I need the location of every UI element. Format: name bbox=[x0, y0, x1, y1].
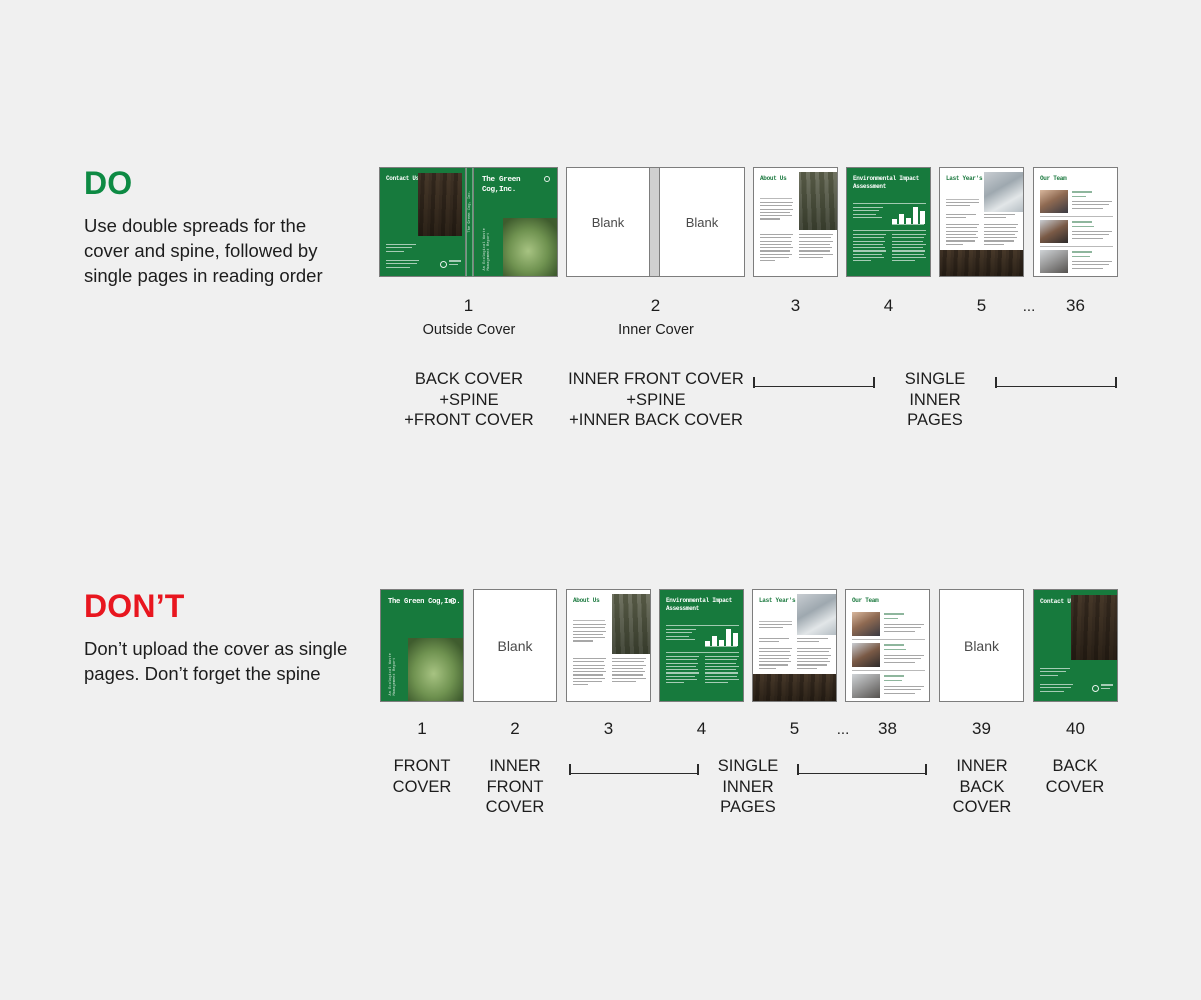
leaf-photo bbox=[503, 218, 558, 277]
inner-front-blank: Blank bbox=[566, 167, 650, 277]
dont-number-4: 4 bbox=[659, 719, 744, 739]
chart-legend bbox=[853, 207, 883, 220]
body-text-block bbox=[666, 656, 699, 686]
dont-thumb-page-3[interactable]: About Us bbox=[566, 589, 651, 702]
team-role-2 bbox=[1072, 226, 1094, 229]
team-bio-2 bbox=[1072, 231, 1112, 241]
dont-thumb-page-40[interactable]: Contact Us bbox=[1033, 589, 1118, 702]
dont-number-3: 3 bbox=[566, 719, 651, 739]
do-number-3: 3 bbox=[753, 296, 838, 316]
do-thumb-inner-cover[interactable]: Blank Blank bbox=[566, 167, 745, 277]
team-name-3 bbox=[884, 675, 904, 679]
divider bbox=[852, 639, 925, 640]
dont-thumb-page-4[interactable]: Environmental Impact Assessment bbox=[659, 589, 744, 702]
impact-title: Environmental Impact Assessment bbox=[853, 175, 930, 190]
team-photo-3 bbox=[852, 674, 880, 698]
do-thumb-page-5[interactable]: Last Year's Projects bbox=[939, 167, 1024, 277]
dont-thumb-page-5[interactable]: Last Year's Projects bbox=[752, 589, 837, 702]
column-heading bbox=[759, 638, 792, 645]
dont-thumb-page-2[interactable]: Blank bbox=[473, 589, 557, 702]
team-role-3 bbox=[884, 680, 902, 683]
dont-bracket-left bbox=[569, 763, 699, 774]
forest-photo bbox=[753, 674, 837, 702]
blank-label: Blank bbox=[660, 168, 744, 276]
team-photo-2 bbox=[852, 643, 880, 667]
inner-back-blank: Blank bbox=[659, 167, 745, 277]
dont-thumb-page-38[interactable]: Our Team bbox=[845, 589, 930, 702]
dont-thumb-page-39[interactable]: Blank bbox=[939, 589, 1024, 702]
do-front-cover-panel: The Green Cog,Inc. An Ecological Waste M… bbox=[473, 167, 558, 277]
body-text-block bbox=[853, 234, 886, 264]
team-photo-1 bbox=[1040, 190, 1068, 213]
leaf-photo bbox=[408, 638, 464, 702]
do-number-36: 36 bbox=[1033, 296, 1118, 316]
divider bbox=[946, 199, 979, 200]
body-text-block bbox=[797, 648, 831, 671]
dont-number-40: 40 bbox=[1033, 719, 1118, 739]
dont-thumb-page-1[interactable]: The Green Cog,Inc. An Ecological Waste M… bbox=[380, 589, 464, 702]
body-text-block bbox=[984, 224, 1018, 247]
contact-us-title: Contact Us bbox=[1040, 598, 1074, 606]
spine-panel: The Green Cog, Inc. bbox=[466, 167, 473, 277]
subtitle-lines bbox=[759, 624, 792, 631]
dont-number-39: 39 bbox=[939, 719, 1024, 739]
logo-icon bbox=[450, 598, 456, 604]
body-text-block bbox=[946, 224, 979, 247]
body-text-block bbox=[760, 202, 793, 222]
divider bbox=[853, 230, 926, 231]
do-thumb-outside-cover[interactable]: Contact Us The Green Cog, Inc. The Green… bbox=[379, 167, 558, 277]
address-lines bbox=[386, 244, 416, 254]
team-role-1 bbox=[884, 618, 898, 621]
do-caption-1: BACK COVER +SPINE +FRONT COVER bbox=[381, 369, 557, 431]
do-number-4: 4 bbox=[846, 296, 931, 316]
impact-bar-chart bbox=[892, 206, 925, 224]
people-photo bbox=[799, 172, 838, 230]
forest-photo bbox=[940, 250, 1024, 277]
contact-lines bbox=[386, 260, 419, 270]
team-photo-1 bbox=[852, 612, 880, 636]
cover-subtitle: An Ecological Waste Management Report bbox=[389, 653, 397, 695]
team-name-3 bbox=[1072, 251, 1092, 255]
logo-wordmark bbox=[1101, 684, 1113, 691]
logo-icon bbox=[544, 176, 550, 182]
forest-photo bbox=[1071, 595, 1118, 660]
do-number-1: 1 bbox=[419, 296, 518, 316]
divider bbox=[1040, 216, 1113, 217]
chart-axis bbox=[705, 646, 737, 647]
column-heading bbox=[946, 214, 979, 221]
team-title: Our Team bbox=[1040, 175, 1066, 183]
logo-wordmark bbox=[449, 260, 461, 267]
do-caption-2: INNER FRONT COVER +SPINE +INNER BACK COV… bbox=[561, 369, 751, 431]
do-heading: DO bbox=[84, 165, 132, 202]
divider bbox=[760, 198, 792, 199]
body-text-block bbox=[573, 658, 606, 688]
body-text-block bbox=[760, 234, 793, 264]
team-bio-1 bbox=[884, 624, 924, 634]
dont-number-1: 1 bbox=[380, 719, 464, 739]
dont-heading: DON’T bbox=[84, 588, 185, 625]
logo-icon bbox=[440, 261, 447, 268]
address-lines bbox=[1040, 668, 1070, 678]
subtitle-lines bbox=[946, 202, 979, 209]
chart-axis bbox=[892, 224, 924, 225]
body-text-block bbox=[705, 656, 739, 686]
dont-caption-inner-pages: SINGLE INNER PAGES bbox=[702, 756, 794, 818]
do-back-cover-panel: Contact Us bbox=[379, 167, 466, 277]
divider bbox=[1040, 246, 1113, 247]
column-heading bbox=[984, 214, 1018, 221]
forest-photo bbox=[418, 173, 462, 236]
team-bio-3 bbox=[1072, 261, 1112, 271]
about-us-title: About Us bbox=[760, 175, 786, 183]
team-bio-3 bbox=[884, 686, 924, 696]
team-name-2 bbox=[1072, 221, 1092, 225]
do-thumb-page-36[interactable]: Our Team bbox=[1033, 167, 1118, 277]
team-role-3 bbox=[1072, 256, 1090, 259]
dont-caption-2: INNER FRONT COVER bbox=[469, 756, 561, 818]
do-description: Use double spreads for the cover and spi… bbox=[84, 213, 354, 288]
team-name-2 bbox=[884, 644, 904, 648]
spine-text: The Green Cog, Inc. bbox=[468, 190, 472, 232]
divider bbox=[573, 620, 605, 621]
divider bbox=[852, 670, 925, 671]
dont-caption-40: BACK COVER bbox=[1029, 756, 1121, 797]
do-bracket-left bbox=[753, 376, 875, 387]
team-title: Our Team bbox=[852, 597, 878, 605]
dont-bracket-right bbox=[797, 763, 927, 774]
map-photo bbox=[984, 172, 1024, 212]
dont-caption-39: INNER BACK COVER bbox=[936, 756, 1028, 818]
team-bio-1 bbox=[1072, 201, 1112, 211]
body-text-block bbox=[759, 648, 792, 671]
team-role-2 bbox=[884, 649, 906, 652]
body-text-block bbox=[573, 624, 606, 644]
divider bbox=[759, 621, 792, 622]
do-thumb-page-3[interactable]: About Us bbox=[753, 167, 838, 277]
team-name-1 bbox=[884, 613, 904, 617]
dont-caption-1: FRONT COVER bbox=[376, 756, 468, 797]
blank-label: Blank bbox=[567, 168, 649, 276]
do-sublabel-2: Inner Cover bbox=[581, 322, 731, 338]
do-bracket-right bbox=[995, 376, 1117, 387]
blank-label: Blank bbox=[474, 590, 556, 701]
dont-description: Don’t upload the cover as single pages. … bbox=[84, 636, 354, 686]
dont-number-38: 38 bbox=[845, 719, 930, 739]
do-caption-inner-pages: SINGLE INNER PAGES bbox=[885, 369, 985, 431]
team-photo-2 bbox=[1040, 220, 1068, 243]
divider bbox=[666, 652, 739, 653]
contact-lines bbox=[1040, 684, 1073, 694]
body-text-block bbox=[892, 234, 926, 264]
body-text-block bbox=[612, 658, 646, 684]
cover-subtitle: An Ecological Waste Management Report bbox=[483, 228, 491, 270]
people-photo bbox=[612, 594, 651, 654]
do-number-2: 2 bbox=[606, 296, 705, 316]
team-bio-2 bbox=[884, 655, 924, 665]
column-heading bbox=[797, 638, 831, 645]
team-photo-3 bbox=[1040, 250, 1068, 273]
contact-us-title: Contact Us bbox=[386, 175, 419, 183]
logo-icon bbox=[1092, 685, 1099, 692]
about-us-title: About Us bbox=[573, 597, 599, 605]
team-role-1 bbox=[1072, 196, 1086, 199]
divider bbox=[666, 625, 739, 626]
blank-label: Blank bbox=[940, 590, 1023, 701]
do-sublabel-1: Outside Cover bbox=[394, 322, 544, 338]
team-name-1 bbox=[1072, 191, 1092, 195]
infographic-canvas: DO Use double spreads for the cover and … bbox=[0, 0, 1201, 1000]
divider bbox=[853, 203, 926, 204]
chart-legend bbox=[666, 629, 696, 642]
do-thumb-page-4[interactable]: Environmental Impact Assessment bbox=[846, 167, 931, 277]
impact-title: Environmental Impact Assessment bbox=[666, 597, 743, 612]
spine-strip bbox=[650, 167, 659, 277]
map-photo bbox=[797, 594, 837, 635]
impact-bar-chart bbox=[705, 628, 738, 646]
dont-number-2: 2 bbox=[473, 719, 557, 739]
body-text-block bbox=[799, 234, 833, 260]
